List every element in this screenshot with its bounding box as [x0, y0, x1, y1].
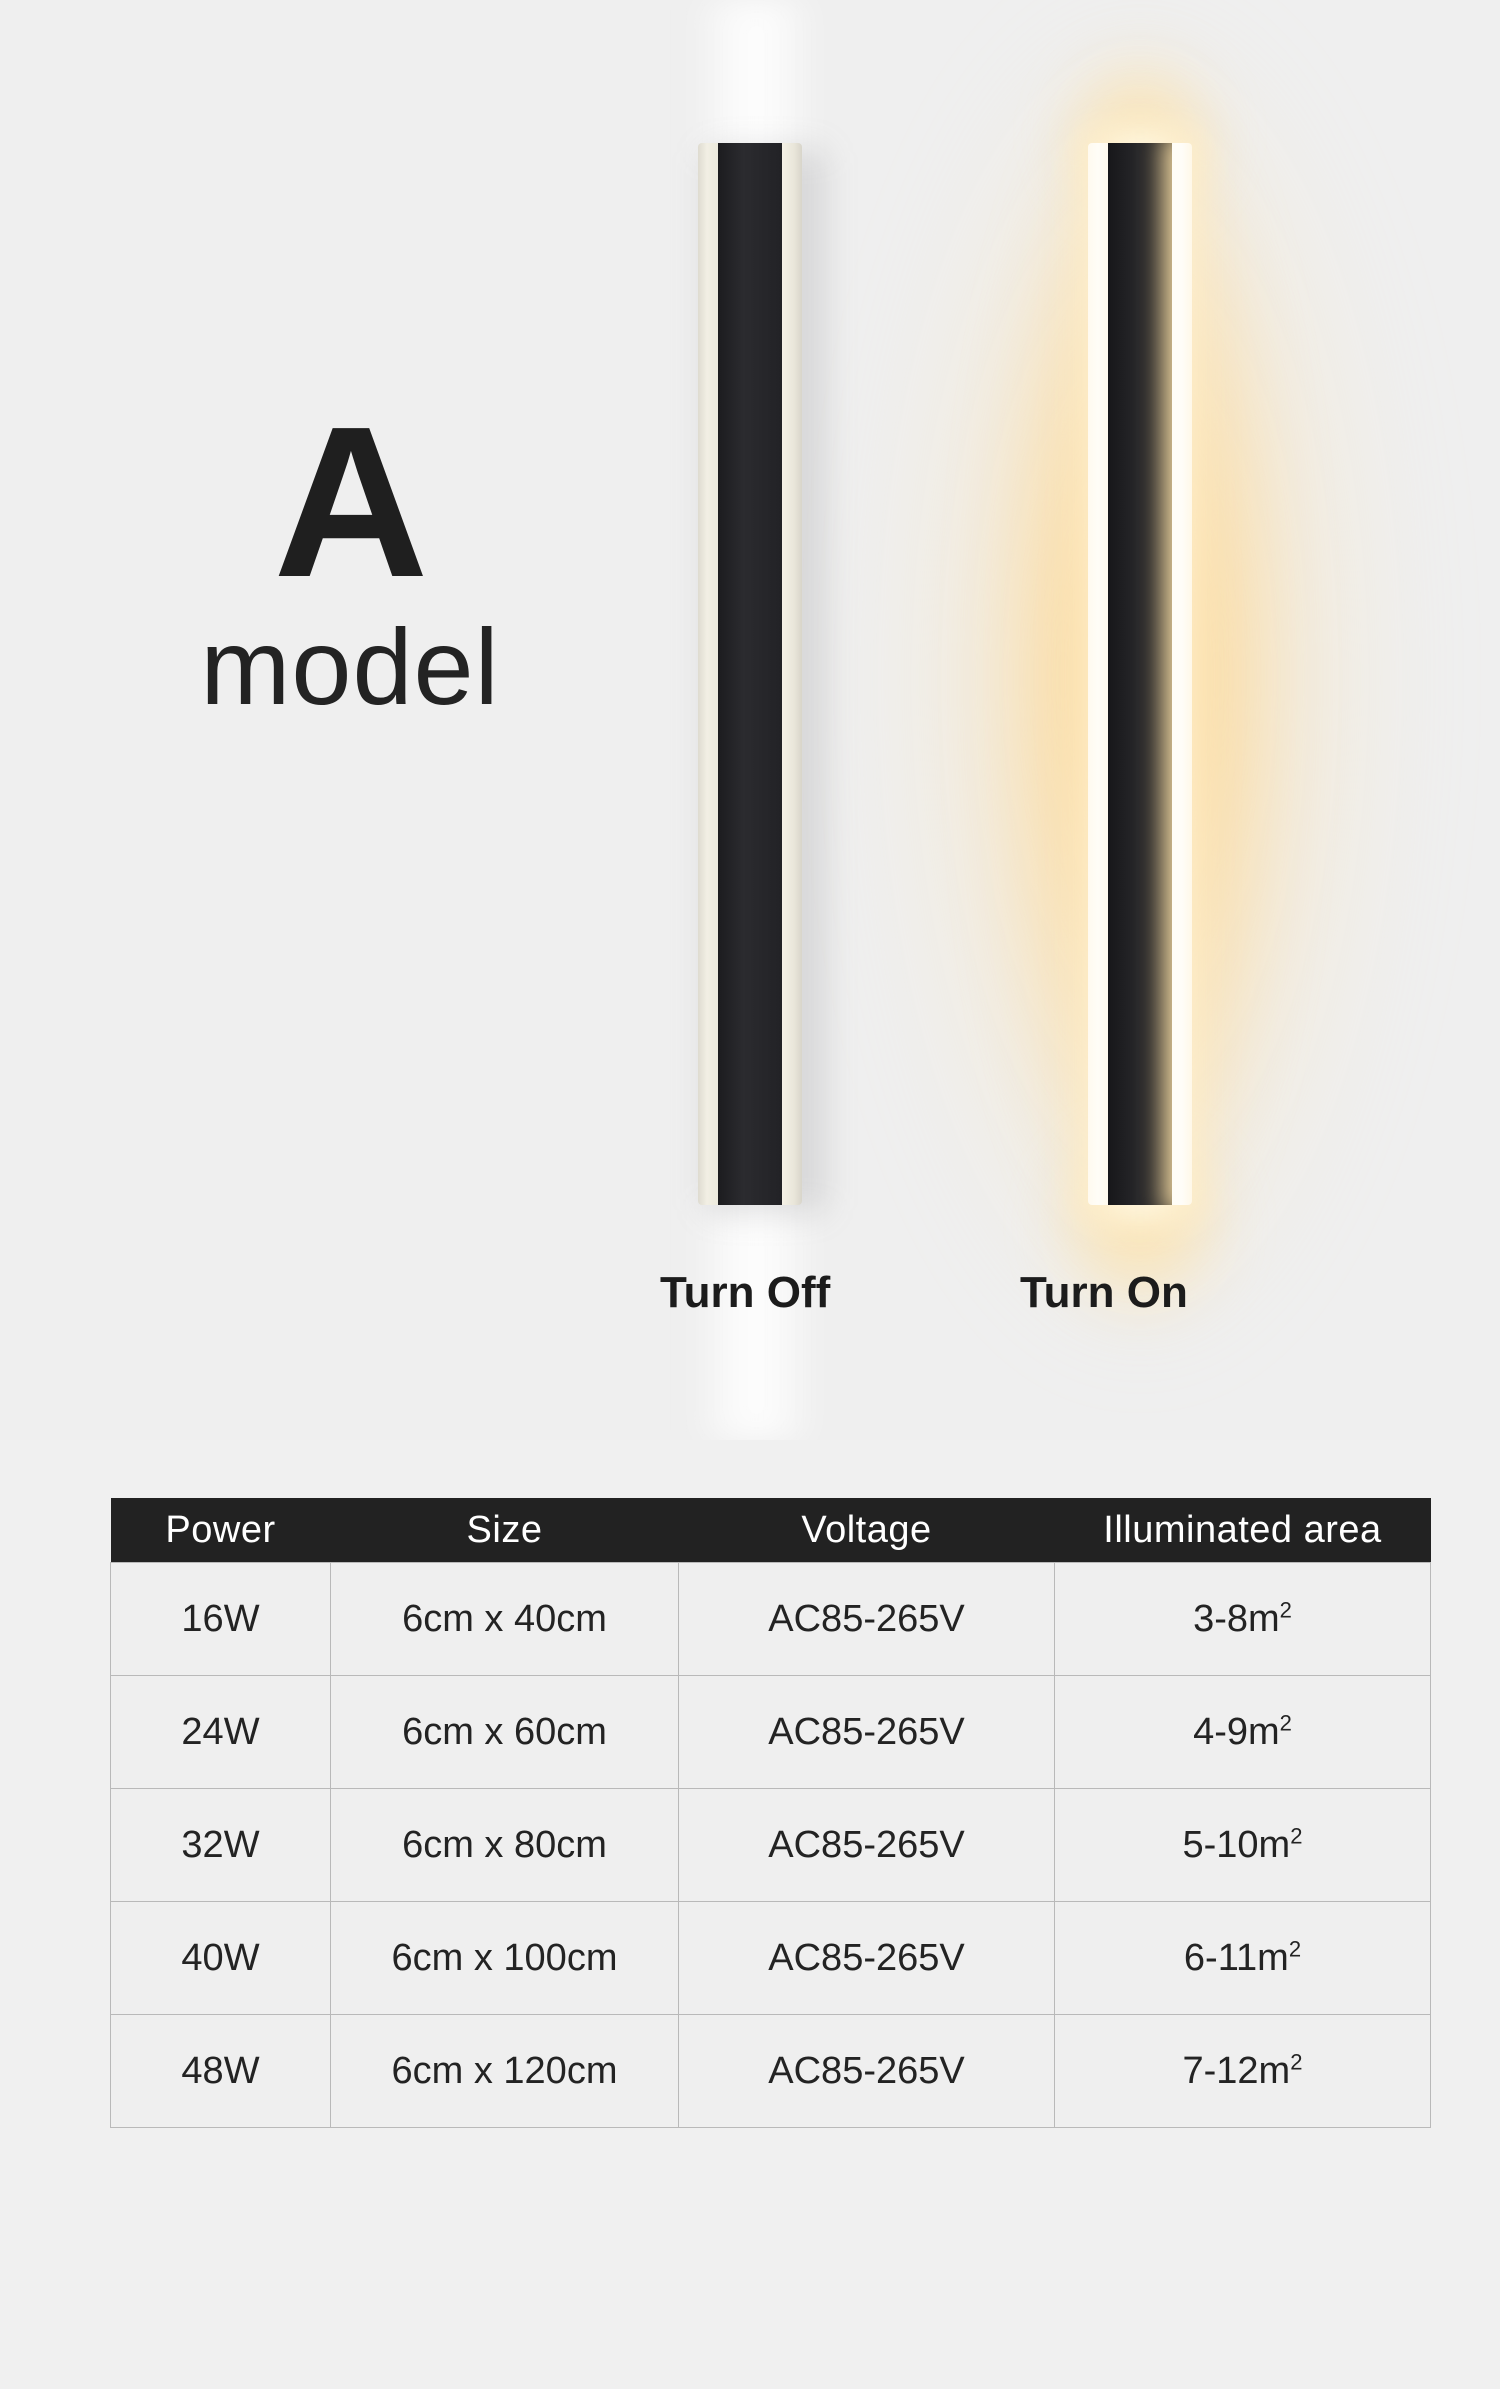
table-body: 16W 6cm x 40cm AC85-265V 3-8m2 24W 6cm x…: [111, 1563, 1431, 2128]
lamp-on-body: [1108, 143, 1172, 1205]
table-row: 32W 6cm x 80cm AC85-265V 5-10m2: [111, 1789, 1431, 1902]
model-letter: A: [140, 400, 560, 604]
table-row: 40W 6cm x 100cm AC85-265V 6-11m2: [111, 1902, 1431, 2015]
cell-voltage: AC85-265V: [679, 1563, 1055, 1676]
cell-area-exponent: 2: [1290, 2049, 1302, 2074]
cell-size: 6cm x 60cm: [331, 1676, 679, 1789]
cell-power: 32W: [111, 1789, 331, 1902]
lamp-fixture-off: [698, 143, 802, 1205]
lamp-off-diffuser-right: [782, 143, 802, 1205]
caption-turn-off: Turn Off: [660, 1268, 830, 1318]
cell-voltage: AC85-265V: [679, 1789, 1055, 1902]
cell-area-value: 5-10m: [1183, 1824, 1291, 1866]
cell-power: 40W: [111, 1902, 331, 2015]
cell-power: 48W: [111, 2015, 331, 2128]
lamp-off-diffuser-left: [698, 143, 718, 1205]
cell-area: 5-10m2: [1055, 1789, 1431, 1902]
cell-area: 7-12m2: [1055, 2015, 1431, 2128]
cell-area: 3-8m2: [1055, 1563, 1431, 1676]
table-header: Power Size Voltage Illuminated area: [111, 1498, 1431, 1563]
caption-turn-on: Turn On: [1020, 1268, 1188, 1318]
cell-size: 6cm x 120cm: [331, 2015, 679, 2128]
cell-area-value: 7-12m: [1183, 2050, 1291, 2092]
lamp-off-body: [718, 143, 782, 1205]
cell-size: 6cm x 80cm: [331, 1789, 679, 1902]
cell-area-value: 4-9m: [1193, 1711, 1280, 1753]
cell-area: 6-11m2: [1055, 1902, 1431, 2015]
cell-area-value: 3-8m: [1193, 1598, 1280, 1640]
cell-size: 6cm x 100cm: [331, 1902, 679, 2015]
specification-table: Power Size Voltage Illuminated area 16W …: [110, 1498, 1431, 2128]
cell-area-value: 6-11m: [1184, 1937, 1289, 1979]
cell-area-exponent: 2: [1289, 1936, 1301, 1961]
cell-area: 4-9m2: [1055, 1676, 1431, 1789]
cell-power: 16W: [111, 1563, 331, 1676]
column-header-power: Power: [111, 1498, 331, 1563]
model-title-block: A model: [140, 400, 560, 724]
table-header-row: Power Size Voltage Illuminated area: [111, 1498, 1431, 1563]
column-header-area: Illuminated area: [1055, 1498, 1431, 1563]
cell-voltage: AC85-265V: [679, 1902, 1055, 2015]
lamp-on-diffuser-right: [1172, 143, 1192, 1205]
cell-area-exponent: 2: [1290, 1823, 1302, 1848]
product-hero-image: A model Turn Off Turn On: [0, 0, 1500, 1440]
model-word-label: model: [140, 610, 560, 723]
cell-voltage: AC85-265V: [679, 1676, 1055, 1789]
cell-power: 24W: [111, 1676, 331, 1789]
lamp-on-diffuser-left: [1088, 143, 1108, 1205]
cell-size: 6cm x 40cm: [331, 1563, 679, 1676]
cell-area-exponent: 2: [1280, 1597, 1292, 1622]
lamp-off-housing: [698, 143, 802, 1205]
lamp-fixture-on: [1088, 143, 1192, 1205]
column-header-size: Size: [331, 1498, 679, 1563]
table-row: 16W 6cm x 40cm AC85-265V 3-8m2: [111, 1563, 1431, 1676]
table-row: 24W 6cm x 60cm AC85-265V 4-9m2: [111, 1676, 1431, 1789]
page-footer-space: [0, 2230, 1500, 2389]
cell-area-exponent: 2: [1280, 1710, 1292, 1735]
column-header-voltage: Voltage: [679, 1498, 1055, 1563]
table-row: 48W 6cm x 120cm AC85-265V 7-12m2: [111, 2015, 1431, 2128]
cell-voltage: AC85-265V: [679, 2015, 1055, 2128]
lamp-on-housing: [1088, 143, 1192, 1205]
